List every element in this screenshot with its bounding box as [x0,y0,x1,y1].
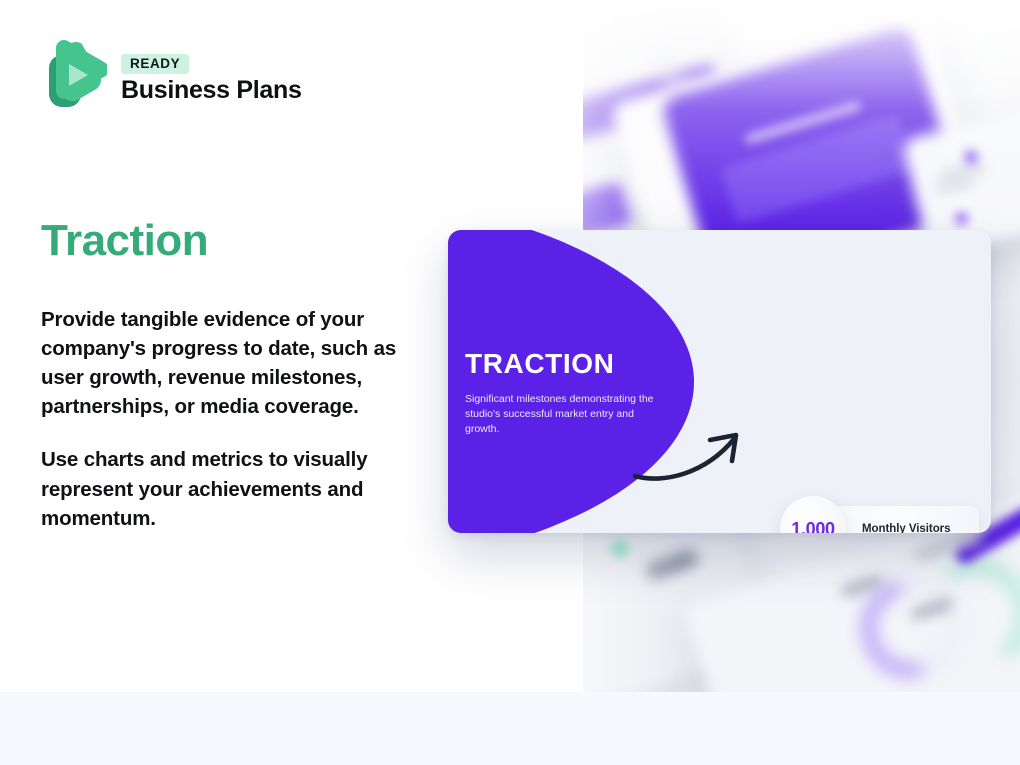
bottom-strip [0,692,1020,765]
slide-canvas: READY Business Plans Traction Provide ta… [0,0,1020,765]
body-paragraph: Use charts and metrics to visually repre… [41,445,433,532]
page-title: Traction [41,219,208,263]
brand-name: Business Plans [121,77,302,105]
background-dot [611,540,628,557]
metric-value-circle: 1,000 [780,496,846,533]
metric-label: Monthly Visitors [862,522,950,533]
brand-lockup: READY Business Plans [41,40,302,118]
metric-item[interactable]: 1,000 Monthly Visitors [780,496,950,533]
card-heading: TRACTION [465,350,725,378]
traction-preview-card[interactable]: TRACTION Significant milestones demonstr… [448,230,991,533]
body-copy: Provide tangible evidence of your compan… [41,305,433,533]
ready-badge: READY [121,54,189,75]
background-dot [955,212,968,225]
curved-arrow-up-right-icon [633,422,753,488]
metric-value: 1,000 [791,519,835,534]
background-dot [964,150,978,164]
card-subtitle: Significant milestones demonstrating the… [465,392,661,437]
play-triangle-logo-icon [41,40,107,118]
body-paragraph: Provide tangible evidence of your compan… [41,305,433,421]
